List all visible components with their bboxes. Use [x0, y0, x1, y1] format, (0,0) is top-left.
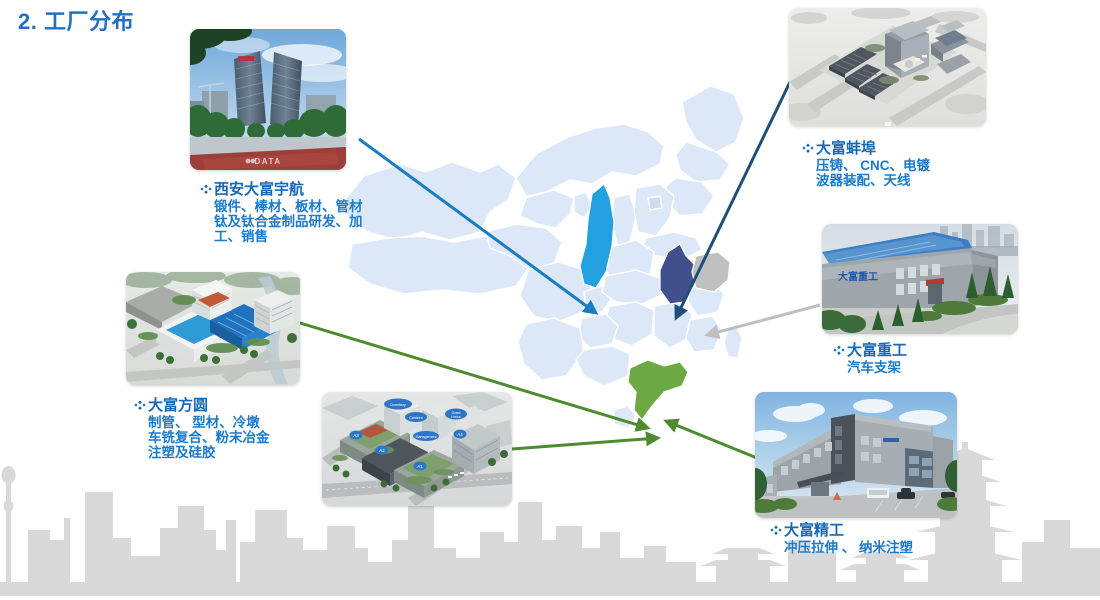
plant-name-bengbu: 大富蚌埠 — [802, 141, 930, 158]
four-diamond-bullet-icon — [200, 184, 212, 195]
plant-desc-line-bengbu-2: 波器装配、天线 — [802, 173, 930, 188]
svg-text:A4: A4 — [457, 432, 463, 437]
plant-desc-line-fangyuan-2: 车铣复合、粉末冶金 — [134, 430, 323, 445]
plant-desc-line-xian-2: 钛及钛合金制品研发、加 — [200, 214, 399, 229]
plant-desc-line-xian-1: 锻件、棒材、板材、管材 — [200, 199, 399, 214]
svg-text:A1: A1 — [417, 464, 423, 469]
plant-desc-line-jinggong-1: 冲压拉伸 、 纳米注塑 — [770, 540, 913, 555]
photo-center-masterplan[interactable]: A3 A2 A1 A4 Dormitory Canteen Management… — [322, 392, 512, 506]
photo-bengbu-aerial-campus[interactable] — [789, 8, 986, 126]
plant-name-zhonggong: 大富重工 — [833, 343, 907, 360]
plant-desc-line-bengbu-1: 压铸、 CNC、电镀 — [802, 158, 930, 173]
photo-fangyuan-aerial[interactable] — [126, 272, 300, 385]
slide-canvas: 2. 工厂分布 — [0, 0, 1100, 600]
svg-text:Canteen: Canteen — [409, 416, 423, 420]
plant-name-text-zhonggong: 大富重工 — [847, 342, 907, 359]
plant-name-text-jinggong: 大富精工 — [784, 522, 844, 539]
svg-text:A2: A2 — [379, 448, 385, 453]
plant-label-dafu-bengbu: 大富蚌埠 压铸、 CNC、电镀 波器装配、天线 — [802, 141, 930, 188]
plant-label-dafu-fangyuan: 大富方圆 制管、 型材、冷墩 车铣复合、粉末冶金 注塑及硅胶 — [134, 398, 323, 460]
svg-text:A3: A3 — [353, 433, 359, 438]
photo-zhonggong-factory[interactable]: 大富重工 — [822, 224, 1018, 334]
svg-text:DATA: DATA — [254, 157, 281, 166]
plant-name-text-bengbu: 大富蚌埠 — [816, 140, 876, 157]
svg-text:House: House — [451, 415, 460, 419]
plant-name-fangyuan: 大富方圆 — [134, 398, 323, 415]
plant-label-dafu-jinggong: 大富精工 冲压拉伸 、 纳米注塑 — [770, 523, 913, 555]
four-diamond-bullet-icon — [134, 400, 146, 411]
plant-desc-line-xian-3: 工、销售 — [200, 229, 399, 244]
plant-label-xian-dafu-yuhang: 西安大富宇航 锻件、棒材、板材、管材 钛及钛合金制品研发、加 工、销售 — [200, 182, 399, 244]
photo-xian-twin-towers[interactable]: DATA — [190, 29, 346, 170]
plant-name-text-fangyuan: 大富方圆 — [148, 397, 208, 414]
four-diamond-bullet-icon — [770, 525, 782, 536]
province-jiangsu — [692, 252, 730, 292]
svg-text:Dormitory: Dormitory — [390, 403, 406, 407]
plant-desc-line-fangyuan-1: 制管、 型材、冷墩 — [134, 415, 323, 430]
factory-sign-text: 大富重工 — [838, 270, 878, 283]
province-guangdong — [628, 360, 688, 420]
photo-jinggong-factory[interactable] — [755, 392, 957, 518]
plant-name-text-xian: 西安大富宇航 — [214, 181, 304, 198]
four-diamond-bullet-icon — [833, 345, 845, 356]
plant-name-xian: 西安大富宇航 — [200, 182, 399, 199]
plant-desc-line-fangyuan-3: 注塑及硅胶 — [134, 445, 323, 460]
page-title: 2. 工厂分布 — [18, 4, 134, 36]
svg-text:Management: Management — [416, 435, 437, 439]
plant-label-dafu-zhonggong: 大富重工 汽车支架 — [833, 343, 907, 375]
plant-desc-line-zhonggong-1: 汽车支架 — [833, 360, 907, 375]
plant-name-jinggong: 大富精工 — [770, 523, 913, 540]
four-diamond-bullet-icon — [802, 143, 814, 154]
